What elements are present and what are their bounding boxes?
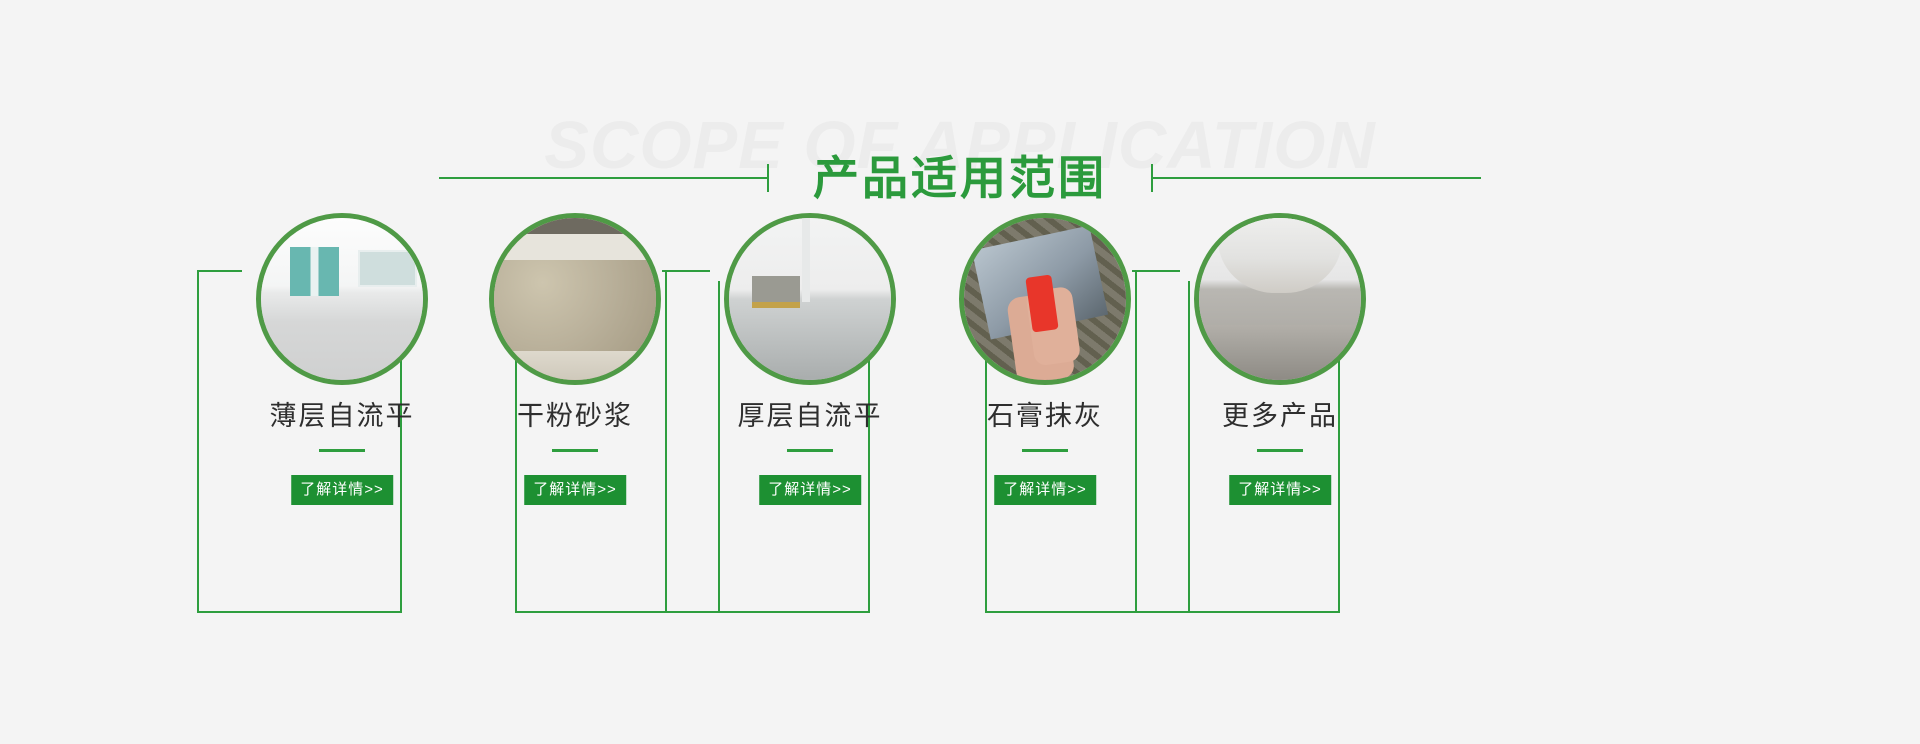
- card-underline: [552, 449, 598, 452]
- title-rule-right: [1151, 177, 1481, 179]
- learn-more-button[interactable]: 了解详情>>: [291, 475, 393, 505]
- photo-art: [494, 218, 656, 380]
- more-products-photo[interactable]: [1194, 213, 1366, 385]
- dry-powder-mortar-photo[interactable]: [489, 213, 661, 385]
- learn-more-button[interactable]: 了解详情>>: [524, 475, 626, 505]
- photo-art: [729, 218, 891, 380]
- scope-of-application-section: SCOPE OF APPLICATION 产品适用范围 薄层自流平 了解详情>>: [0, 0, 1920, 744]
- card-underline: [1257, 449, 1303, 452]
- product-card[interactable]: 更多产品 了解详情>>: [1135, 213, 1425, 633]
- product-card-list: 薄层自流平 了解详情>> 干粉砂浆 了解详情>> 厚层自流平 了解详情>>: [0, 213, 1920, 633]
- thick-layer-self-leveling-floor-photo[interactable]: [724, 213, 896, 385]
- gypsum-plastering-trowel-photo[interactable]: [959, 213, 1131, 385]
- card-label: 更多产品: [1135, 403, 1425, 430]
- title-rule-left: [439, 177, 769, 179]
- photo-art: [1199, 218, 1361, 380]
- thin-layer-self-leveling-floor-photo[interactable]: [256, 213, 428, 385]
- card-underline: [787, 449, 833, 452]
- photo-art: [964, 218, 1126, 380]
- learn-more-button[interactable]: 了解详情>>: [759, 475, 861, 505]
- card-underline: [1022, 449, 1068, 452]
- card-underline: [319, 449, 365, 452]
- title-row: 产品适用范围: [0, 155, 1920, 201]
- section-header: SCOPE OF APPLICATION 产品适用范围: [0, 60, 1920, 190]
- learn-more-button[interactable]: 了解详情>>: [994, 475, 1096, 505]
- photo-art: [261, 218, 423, 380]
- learn-more-button[interactable]: 了解详情>>: [1229, 475, 1331, 505]
- page-title: 产品适用范围: [769, 155, 1151, 201]
